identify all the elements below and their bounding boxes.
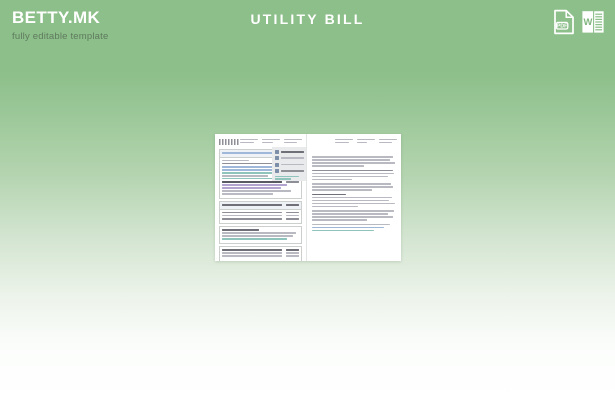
contact-paragraph bbox=[312, 224, 396, 232]
brand-tagline: fully editable template bbox=[12, 31, 242, 43]
callout-title-icon bbox=[275, 150, 279, 154]
right-page-body bbox=[312, 156, 396, 231]
terms-paragraph bbox=[312, 156, 396, 167]
message-section bbox=[219, 226, 302, 244]
left-page-header-fields bbox=[240, 139, 302, 144]
callout-item bbox=[275, 169, 304, 173]
word-format-icon[interactable]: W bbox=[581, 9, 605, 40]
terms-paragraph bbox=[312, 170, 396, 181]
poster-canvas: BETTY.MK fully editable template UTILITY… bbox=[0, 0, 615, 400]
charges-table-section bbox=[219, 201, 302, 224]
document-logo bbox=[219, 139, 239, 145]
payment-methods-callout bbox=[272, 147, 306, 181]
document-preview[interactable] bbox=[215, 134, 401, 261]
page-title: UTILITY BILL bbox=[0, 10, 615, 28]
card-icon bbox=[275, 163, 279, 167]
pdf-format-icon[interactable]: PDF bbox=[553, 9, 575, 40]
terms-paragraph bbox=[312, 194, 396, 208]
usage-section bbox=[219, 246, 302, 261]
format-icons: PDF W bbox=[553, 9, 605, 40]
right-page-header-fields bbox=[335, 139, 397, 144]
left-page bbox=[215, 134, 307, 261]
right-page bbox=[307, 134, 401, 261]
terms-paragraph bbox=[312, 183, 396, 191]
callout-title-row bbox=[275, 150, 304, 154]
svg-text:PDF: PDF bbox=[557, 24, 567, 30]
callout-item bbox=[275, 163, 304, 167]
terms-paragraph bbox=[312, 210, 396, 221]
phone-icon bbox=[275, 169, 279, 173]
svg-text:W: W bbox=[583, 16, 592, 27]
bank-icon bbox=[275, 156, 279, 160]
callout-item bbox=[275, 156, 304, 160]
